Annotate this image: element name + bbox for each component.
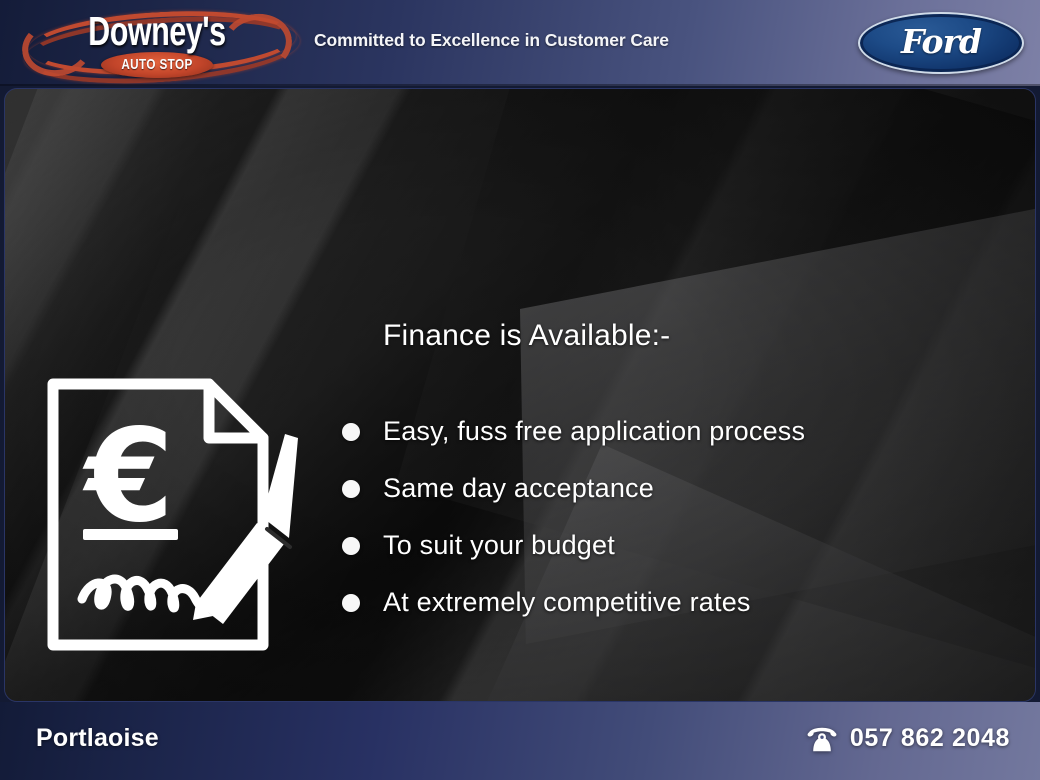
svg-text:€: € xyxy=(82,402,174,551)
list-item: Easy, fuss free application process xyxy=(333,403,1023,460)
benefit-label: At extremely competitive rates xyxy=(383,587,751,618)
euro-document-signature-icon: € xyxy=(41,372,309,657)
benefit-label: Same day acceptance xyxy=(383,473,654,504)
ford-wordmark: Ford xyxy=(858,21,1024,63)
finance-heading: Finance is Available:- xyxy=(383,319,670,353)
main-content-panel: € Finance is Available:- Easy, fuss free… xyxy=(4,88,1036,702)
bullet-icon xyxy=(342,480,360,498)
ford-logo[interactable]: Ford xyxy=(858,12,1024,74)
list-item: At extremely competitive rates xyxy=(333,574,1023,631)
list-item: Same day acceptance xyxy=(333,460,1023,517)
header-tagline: Committed to Excellence in Customer Care xyxy=(314,30,669,51)
bullet-icon xyxy=(342,594,360,612)
benefit-label: Easy, fuss free application process xyxy=(383,416,805,447)
header-bar: Downey's AUTO STOP Committed to Excellen… xyxy=(0,0,1040,86)
footer-contact[interactable]: 057 862 2048 xyxy=(807,724,1010,753)
dealer-logo[interactable]: Downey's AUTO STOP xyxy=(22,4,292,84)
footer-location: Portlaoise xyxy=(36,724,159,753)
logo-wordmark: Downey's xyxy=(57,6,257,56)
telephone-icon xyxy=(807,726,837,752)
benefit-list: Easy, fuss free application process Same… xyxy=(333,403,1023,631)
footer-bar: Portlaoise 057 862 2048 xyxy=(0,702,1040,780)
footer-phone-number: 057 862 2048 xyxy=(850,724,1010,753)
bullet-icon xyxy=(342,423,360,441)
bullet-icon xyxy=(342,537,360,555)
logo-sub-wordmark: AUTO STOP xyxy=(113,54,200,75)
list-item: To suit your budget xyxy=(333,517,1023,574)
advertisement-banner: Downey's AUTO STOP Committed to Excellen… xyxy=(0,0,1040,780)
benefit-label: To suit your budget xyxy=(383,530,615,561)
